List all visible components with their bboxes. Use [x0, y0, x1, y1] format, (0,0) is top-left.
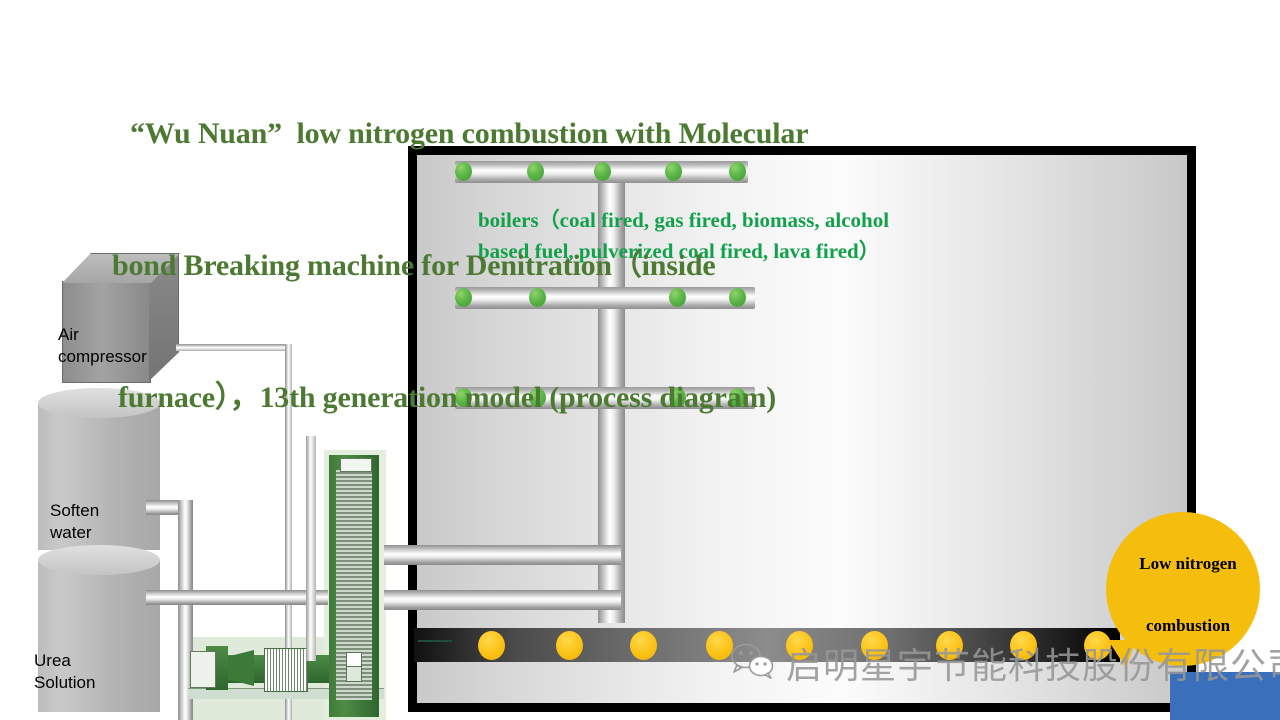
urea-solution-label-line2: Solution [34, 673, 95, 692]
callout-line2: combustion [1146, 616, 1230, 635]
urea-solution-label: Urea Solution [34, 650, 164, 694]
feed-pipe-upper [384, 545, 621, 565]
diagram-canvas: boilers（coal fired, gas fired, biomass, … [0, 0, 1280, 720]
air-compressor-label-line1: Air [58, 325, 79, 344]
page-title-line2: bond Breaking machine for Denitration（in… [112, 244, 1122, 288]
flame [556, 631, 583, 660]
machine-filter-grid [264, 648, 308, 692]
flame [630, 631, 657, 660]
wechat-icon [730, 643, 776, 684]
flame [478, 631, 505, 660]
soften-water-label-line1: Soften [50, 501, 99, 520]
page-title-line1: “Wu Nuan” low nitrogen combustion with M… [112, 112, 1122, 156]
feed-pipe-lower [384, 590, 621, 610]
machine-panel-lower [346, 666, 362, 682]
callout-line1: Low nitrogen [1139, 554, 1236, 573]
soften-water-label-line2: water [50, 523, 92, 542]
control-cabinet [190, 651, 216, 688]
urea-solution-tank-cap [38, 545, 160, 575]
flame [706, 631, 733, 660]
watermark: 启明星宇节能科技股份有限公司 [730, 640, 1280, 686]
watermark-text: 启明星宇节能科技股份有限公司 [786, 637, 1280, 689]
page-title: “Wu Nuan” low nitrogen combustion with M… [112, 24, 1122, 508]
urea-solution-label-line1: Urea [34, 651, 71, 670]
feed-arrow-icon [418, 640, 452, 642]
page-title-line3: furnace），13th generation model (process … [112, 376, 1122, 420]
